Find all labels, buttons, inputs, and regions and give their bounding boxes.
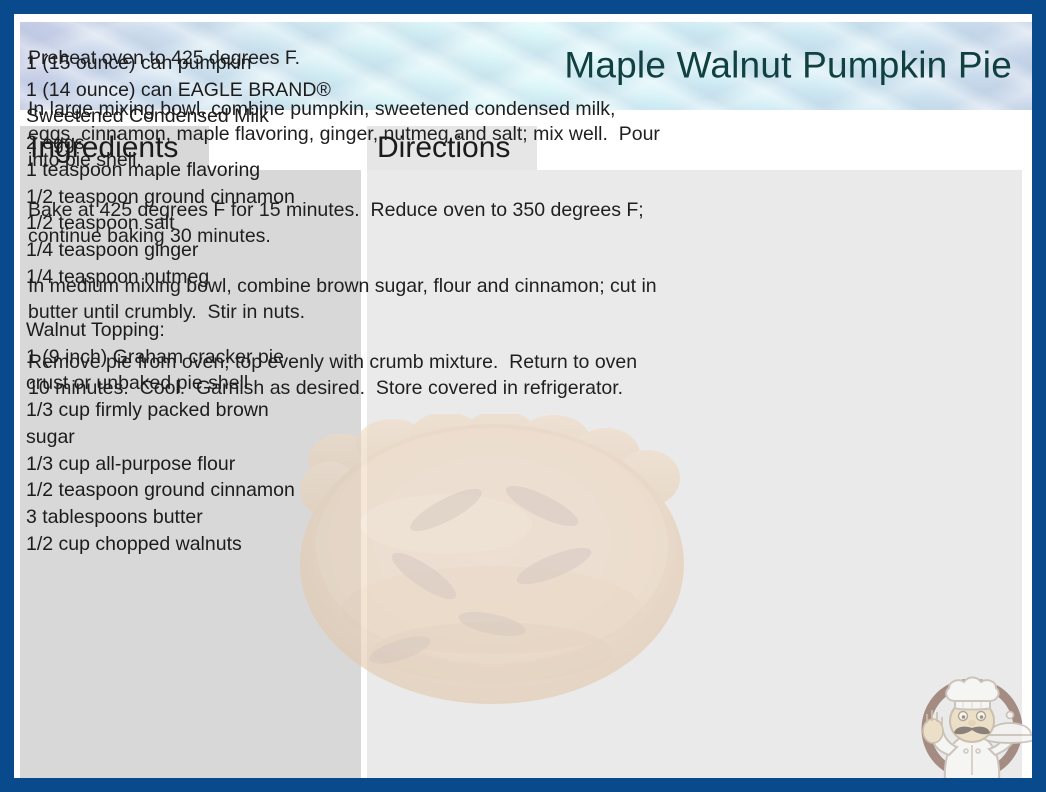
recipe-card: Maple Walnut Pumpkin Pie Ingredients 1 (… bbox=[0, 0, 1046, 792]
direction-step: In large mixing bowl, combine pumpkin, s… bbox=[28, 97, 660, 174]
directions-steps: Preheat oven to 425 degrees F. In large … bbox=[28, 46, 660, 401]
list-item: 3 tablespoons butter bbox=[26, 504, 351, 531]
list-item: 1/2 teaspoon ground cinnamon bbox=[26, 477, 351, 504]
direction-step: In medium mixing bowl, combine brown sug… bbox=[28, 274, 660, 325]
card-inner: Maple Walnut Pumpkin Pie Ingredients 1 (… bbox=[14, 14, 1032, 778]
list-item: 1/3 cup all-purpose flour bbox=[26, 451, 351, 478]
list-item: 1/2 cup chopped walnuts bbox=[26, 531, 351, 558]
direction-step: Remove pie from oven; top evenly with cr… bbox=[28, 350, 660, 401]
list-item: 1/3 cup firmly packed brown bbox=[26, 397, 351, 424]
list-item: sugar bbox=[26, 424, 351, 451]
direction-step: Preheat oven to 425 degrees F. bbox=[28, 46, 660, 72]
direction-step: Bake at 425 degrees F for 15 minutes. Re… bbox=[28, 198, 660, 249]
